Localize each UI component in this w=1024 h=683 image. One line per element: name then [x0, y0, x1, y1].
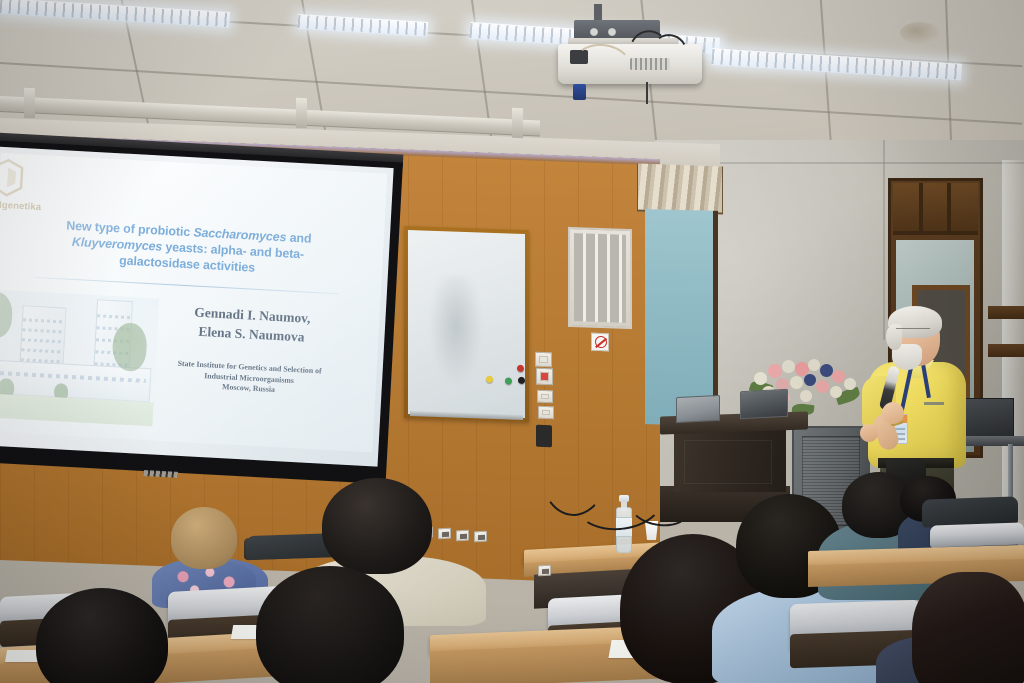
slide-logo-text: sNIIgenetika — [0, 199, 41, 213]
whiteboard-marker-tray — [410, 411, 523, 420]
door-transom — [893, 183, 978, 235]
slide-authors: Gennadi I. Naumov, Elena S. Naumova — [161, 302, 343, 349]
rail-bracket — [24, 88, 35, 118]
magnet-yellow[interactable] — [486, 376, 493, 383]
speaker-hand — [860, 424, 878, 442]
slide-title-italic-2: Kluyveromyces — [72, 235, 163, 254]
whiteboard — [404, 226, 529, 422]
magnet-black[interactable] — [518, 377, 525, 384]
emergency-switch-plate[interactable] — [536, 368, 553, 386]
wall-switch-plate[interactable] — [537, 390, 553, 404]
vga-connector — [573, 84, 586, 100]
wall-slat — [988, 306, 1024, 319]
magnet-red[interactable] — [517, 365, 524, 372]
ceiling-stain — [900, 22, 940, 44]
slide-title-part-2: and — [286, 230, 312, 245]
wall-corner-highlight — [1002, 160, 1024, 520]
teal-wall-panel — [645, 209, 718, 426]
light-diffuser-grid — [712, 49, 962, 80]
wall-slat — [988, 344, 1024, 357]
screen-border: sNIIgenetika New type of probiotic Sacch… — [0, 140, 403, 484]
side-table-leg — [1008, 444, 1013, 500]
attendee-long-hair — [912, 572, 1024, 683]
laptop-left[interactable] — [676, 395, 720, 423]
whiteboard-reflection — [429, 275, 483, 387]
gosniigenetika-logo-icon — [0, 156, 31, 202]
wall-socket[interactable] — [456, 530, 469, 542]
rail-bracket — [512, 108, 523, 138]
conference-room-scene: sNIIgenetika New type of probiotic Sacch… — [0, 0, 1024, 683]
magnet-green[interactable] — [505, 377, 512, 384]
wall-socket[interactable] — [474, 531, 487, 543]
whiteboard-surface — [408, 230, 525, 418]
wall-switch-plate[interactable] — [538, 406, 554, 420]
presentation-slide: sNIIgenetika New type of probiotic Sacch… — [0, 153, 387, 453]
attendee-front-left — [36, 588, 168, 683]
pleated-valance-curtain — [637, 163, 723, 214]
slide-affiliation: State Institute for Genetics and Selecti… — [156, 358, 341, 399]
projector-antenna — [646, 82, 648, 104]
desk-power-socket[interactable] — [538, 565, 551, 577]
laptop-right[interactable] — [740, 389, 788, 420]
projection-screen: sNIIgenetika New type of probiotic Sacch… — [0, 132, 403, 494]
slide-building-photo — [0, 289, 159, 426]
rail-bracket — [296, 98, 307, 128]
seat-right-back-cushion[interactable] — [930, 522, 1024, 547]
speaker-shirt-pocket — [924, 402, 944, 405]
attendee-blonde-curly-head — [171, 507, 237, 569]
speaker-glasses — [896, 328, 930, 336]
podium-body — [674, 430, 786, 492]
screen-brand-label — [144, 470, 178, 478]
wall-socket[interactable] — [438, 528, 451, 540]
attendee-dark-hair-left — [322, 478, 432, 574]
light-switch-plate[interactable] — [535, 352, 552, 368]
slide-divider-rule — [34, 277, 339, 294]
speaker-hand — [882, 402, 904, 424]
no-smoking-sign — [591, 333, 609, 352]
slide-title: New type of probiotic Saccharomyces and … — [37, 217, 339, 281]
screen-surface: sNIIgenetika New type of probiotic Sacch… — [0, 146, 394, 466]
wall-vent-panel — [568, 227, 632, 329]
